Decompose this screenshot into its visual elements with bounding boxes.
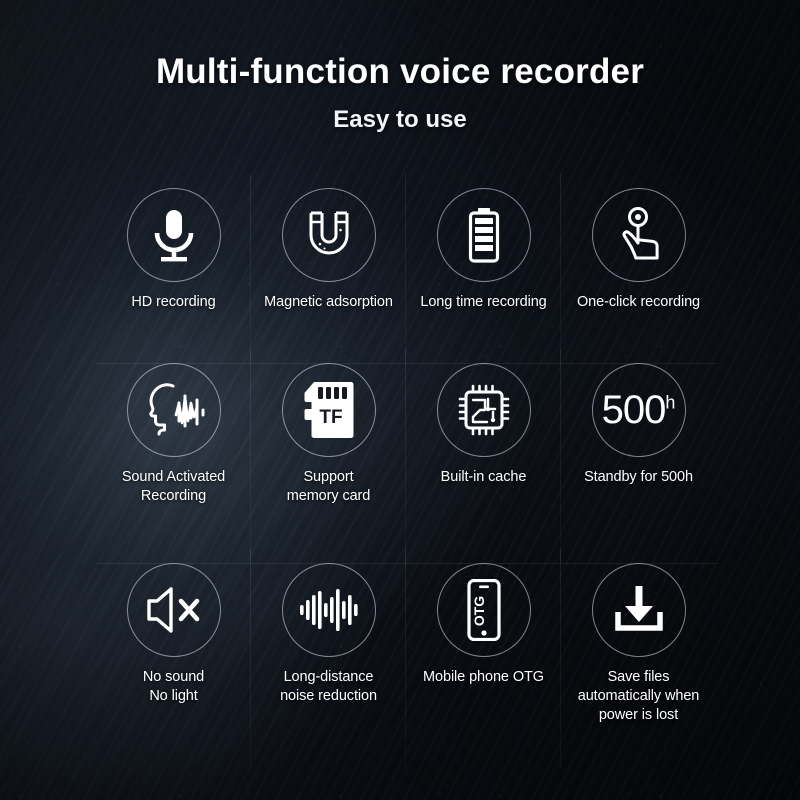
feature-badge: 500h bbox=[592, 363, 686, 457]
download-save-icon bbox=[611, 584, 667, 636]
feature-cell-hd-recording[interactable]: HD recording bbox=[96, 188, 251, 363]
feature-badge bbox=[127, 563, 221, 657]
feature-label: One-click recording bbox=[577, 293, 700, 312]
feature-label: Save files automatically when power is l… bbox=[564, 668, 714, 725]
feature-label: Long-distance noise reduction bbox=[280, 668, 377, 706]
feature-cell-support-memory-card[interactable]: TF Support memory card bbox=[251, 363, 406, 563]
feature-cell-mobile-phone-otg[interactable]: OTG Mobile phone OTG bbox=[406, 563, 561, 768]
feature-badge bbox=[282, 188, 376, 282]
tf-memory-card-icon: TF bbox=[303, 380, 355, 440]
feature-cell-sound-activated-recording[interactable]: Sound Activated Recording bbox=[96, 363, 251, 563]
otg-text: OTG bbox=[471, 596, 487, 626]
feature-badge bbox=[282, 563, 376, 657]
feature-badge bbox=[127, 363, 221, 457]
feature-cell-save-files-on-power-loss[interactable]: Save files automatically when power is l… bbox=[561, 563, 716, 768]
feature-cell-built-in-cache[interactable]: Built-in cache bbox=[406, 363, 561, 563]
feature-cell-no-sound-no-light[interactable]: No sound No light bbox=[96, 563, 251, 768]
feature-cell-long-time-recording[interactable]: Long time recording bbox=[406, 188, 561, 363]
feature-badge bbox=[592, 188, 686, 282]
feature-label: Mobile phone OTG bbox=[423, 668, 544, 687]
feature-label: Long time recording bbox=[420, 293, 546, 312]
sound-wave-bars-icon bbox=[299, 587, 359, 633]
feature-badge bbox=[437, 188, 531, 282]
feature-badge: OTG bbox=[437, 563, 531, 657]
page-title: Multi-function voice recorder bbox=[0, 0, 800, 92]
speaker-mute-icon bbox=[145, 585, 203, 635]
feature-label: HD recording bbox=[131, 293, 215, 312]
feature-cell-one-click-recording[interactable]: One-click recording bbox=[561, 188, 716, 363]
header-block: Multi-function voice recorder Easy to us… bbox=[0, 0, 800, 134]
feature-label: Support memory card bbox=[287, 468, 371, 506]
feature-cell-standby-500h[interactable]: 500h Standby for 500h bbox=[561, 363, 716, 563]
feature-label: Magnetic adsorption bbox=[264, 293, 393, 312]
feature-label: No sound No light bbox=[143, 668, 204, 706]
magnet-icon bbox=[302, 207, 356, 263]
page-subtitle: Easy to use bbox=[0, 92, 800, 134]
battery-icon bbox=[464, 206, 504, 264]
feature-label: Sound Activated Recording bbox=[122, 468, 225, 506]
mobile-phone-otg-icon: OTG bbox=[463, 579, 505, 641]
feature-badge bbox=[127, 188, 221, 282]
cpu-chip-icon bbox=[456, 382, 512, 438]
feature-cell-magnetic-adsorption[interactable]: Magnetic adsorption bbox=[251, 188, 406, 363]
feature-label: Standby for 500h bbox=[584, 468, 693, 487]
feature-badge: TF bbox=[282, 363, 376, 457]
feature-cell-noise-reduction[interactable]: Long-distance noise reduction bbox=[251, 563, 406, 768]
standby-hours-unit: h bbox=[665, 393, 675, 413]
feature-grid: HD recording Magnetic adsorption bbox=[96, 188, 716, 768]
feature-badge bbox=[437, 363, 531, 457]
feature-label: Built-in cache bbox=[441, 468, 527, 487]
voice-face-icon bbox=[143, 381, 205, 439]
standby-hours-text: 500h bbox=[602, 390, 676, 430]
product-feature-poster: Multi-function voice recorder Easy to us… bbox=[0, 0, 800, 800]
microphone-icon bbox=[147, 206, 201, 264]
standby-hours-value: 500 bbox=[602, 388, 666, 432]
tap-hand-icon bbox=[611, 206, 667, 264]
tf-card-text: TF bbox=[319, 407, 342, 428]
feature-badge bbox=[592, 563, 686, 657]
